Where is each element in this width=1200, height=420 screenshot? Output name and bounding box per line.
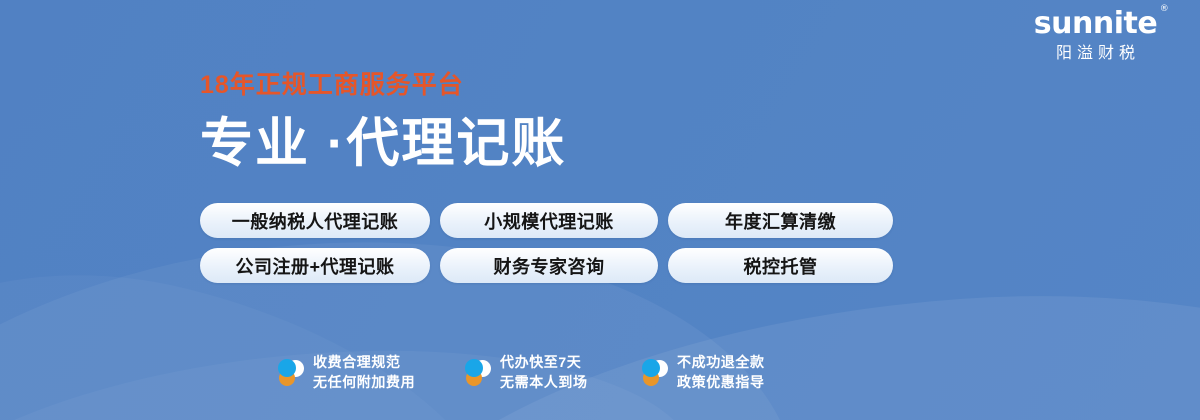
- feature-line-2: 政策优惠指导: [677, 374, 765, 390]
- dot-crescent-icon: [465, 357, 491, 387]
- service-pill-tax-control-custody[interactable]: 税控托管: [668, 248, 893, 283]
- page-title: 专业 ·代理记账: [200, 114, 566, 173]
- tagline: 18年正规工商服务平台: [200, 72, 566, 100]
- dot-crescent-icon: [642, 357, 668, 387]
- feature-line-2: 无需本人到场: [500, 374, 588, 390]
- logo-wordmark-text: sunnite: [1034, 6, 1157, 41]
- feature-item-guarantee: 不成功退全款 政策优惠指导: [642, 352, 822, 393]
- feature-text-guarantee: 不成功退全款 政策优惠指导: [677, 352, 765, 393]
- logo-chinese-name: 阳溢财税: [1013, 44, 1178, 65]
- feature-line-1: 不成功退全款: [677, 354, 765, 370]
- service-pill-annual-settlement[interactable]: 年度汇算清缴: [668, 203, 893, 238]
- feature-line-2: 无任何附加费用: [313, 374, 415, 390]
- service-pill-row-1: 一般纳税人代理记账 小规模代理记账 年度汇算清缴: [200, 203, 893, 238]
- service-pill-finance-consulting[interactable]: 财务专家咨询: [440, 248, 658, 283]
- service-pill-grid: 一般纳税人代理记账 小规模代理记账 年度汇算清缴 公司注册+代理记账 财务专家咨…: [200, 203, 893, 283]
- feature-list: 收费合理规范 无任何附加费用 代办快至7天 无需本人到场 不成功退全款: [278, 352, 822, 393]
- feature-line-1: 收费合理规范: [313, 354, 401, 370]
- promo-banner: sunnite ® 阳溢财税 18年正规工商服务平台 专业 ·代理记账 一般纳税…: [0, 0, 1200, 420]
- service-pill-company-registration[interactable]: 公司注册+代理记账: [200, 248, 430, 283]
- feature-text-speed: 代办快至7天 无需本人到场: [500, 352, 588, 393]
- service-pill-small-scale[interactable]: 小规模代理记账: [440, 203, 658, 238]
- dot-crescent-icon: [278, 357, 304, 387]
- feature-text-pricing: 收费合理规范 无任何附加费用: [313, 352, 415, 393]
- service-pill-row-2: 公司注册+代理记账 财务专家咨询 税控托管: [200, 248, 893, 283]
- logo-wordmark: sunnite ®: [1034, 8, 1157, 40]
- feature-item-speed: 代办快至7天 无需本人到场: [465, 352, 642, 393]
- feature-item-pricing: 收费合理规范 无任何附加费用: [278, 352, 465, 393]
- feature-line-1: 代办快至7天: [500, 354, 581, 370]
- registered-trademark-icon: ®: [1160, 5, 1169, 14]
- headline-block: 18年正规工商服务平台 专业 ·代理记账: [200, 72, 566, 173]
- service-pill-general-taxpayer[interactable]: 一般纳税人代理记账: [200, 203, 430, 238]
- brand-logo[interactable]: sunnite ® 阳溢财税: [1013, 8, 1178, 64]
